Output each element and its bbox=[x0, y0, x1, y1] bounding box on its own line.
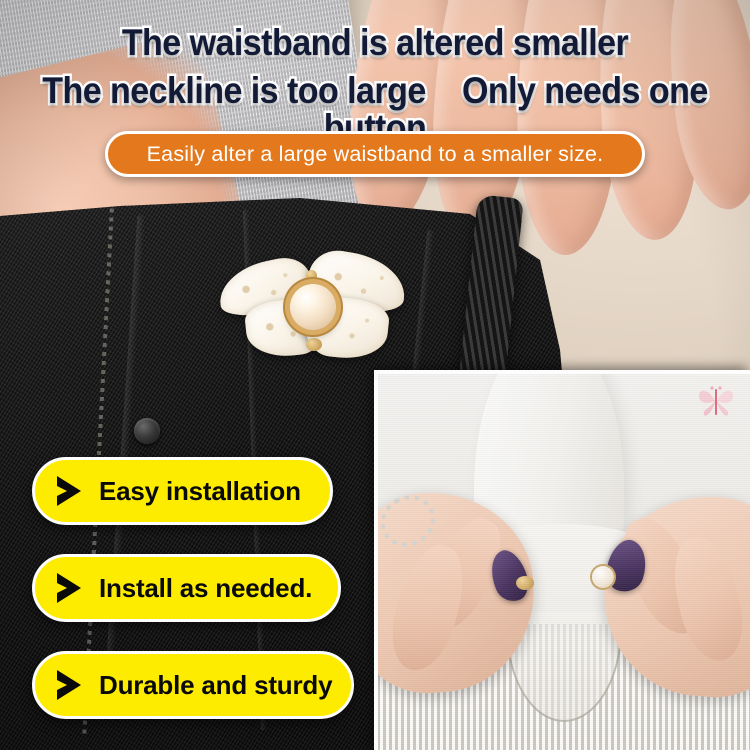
feature-pill-durable-and-sturdy[interactable]: Durable and sturdy bbox=[32, 651, 354, 719]
neckline-demo-photo bbox=[374, 370, 750, 750]
feature-label: Install as needed. bbox=[99, 573, 312, 604]
pearl-center bbox=[290, 284, 336, 330]
feature-label: Durable and sturdy bbox=[99, 670, 332, 701]
denim-button-rivet bbox=[134, 418, 160, 444]
butterfly-watermark bbox=[696, 384, 736, 418]
feature-label: Easy installation bbox=[99, 476, 301, 507]
chevron-right-icon bbox=[55, 474, 85, 508]
clip-gold-accent-bottom bbox=[306, 338, 322, 351]
butterfly-pearl-clip bbox=[212, 240, 408, 370]
inset-pearl-center bbox=[592, 566, 614, 588]
chevron-right-icon bbox=[55, 668, 85, 702]
feature-pill-install-as-needed[interactable]: Install as needed. bbox=[32, 554, 341, 622]
feature-list: Easy installation Install as needed. Dur… bbox=[32, 457, 354, 719]
clip-gold-hook bbox=[516, 576, 534, 590]
feature-pill-easy-installation[interactable]: Easy installation bbox=[32, 457, 333, 525]
chevron-right-icon bbox=[55, 571, 85, 605]
orange-callout-banner: Easily alter a large waistband to a smal… bbox=[105, 131, 645, 177]
orange-callout-text: Easily alter a large waistband to a smal… bbox=[147, 142, 604, 167]
product-advertisement: The waistband is altered smaller The nec… bbox=[0, 0, 750, 750]
clip-gold-accent-top bbox=[306, 270, 317, 281]
